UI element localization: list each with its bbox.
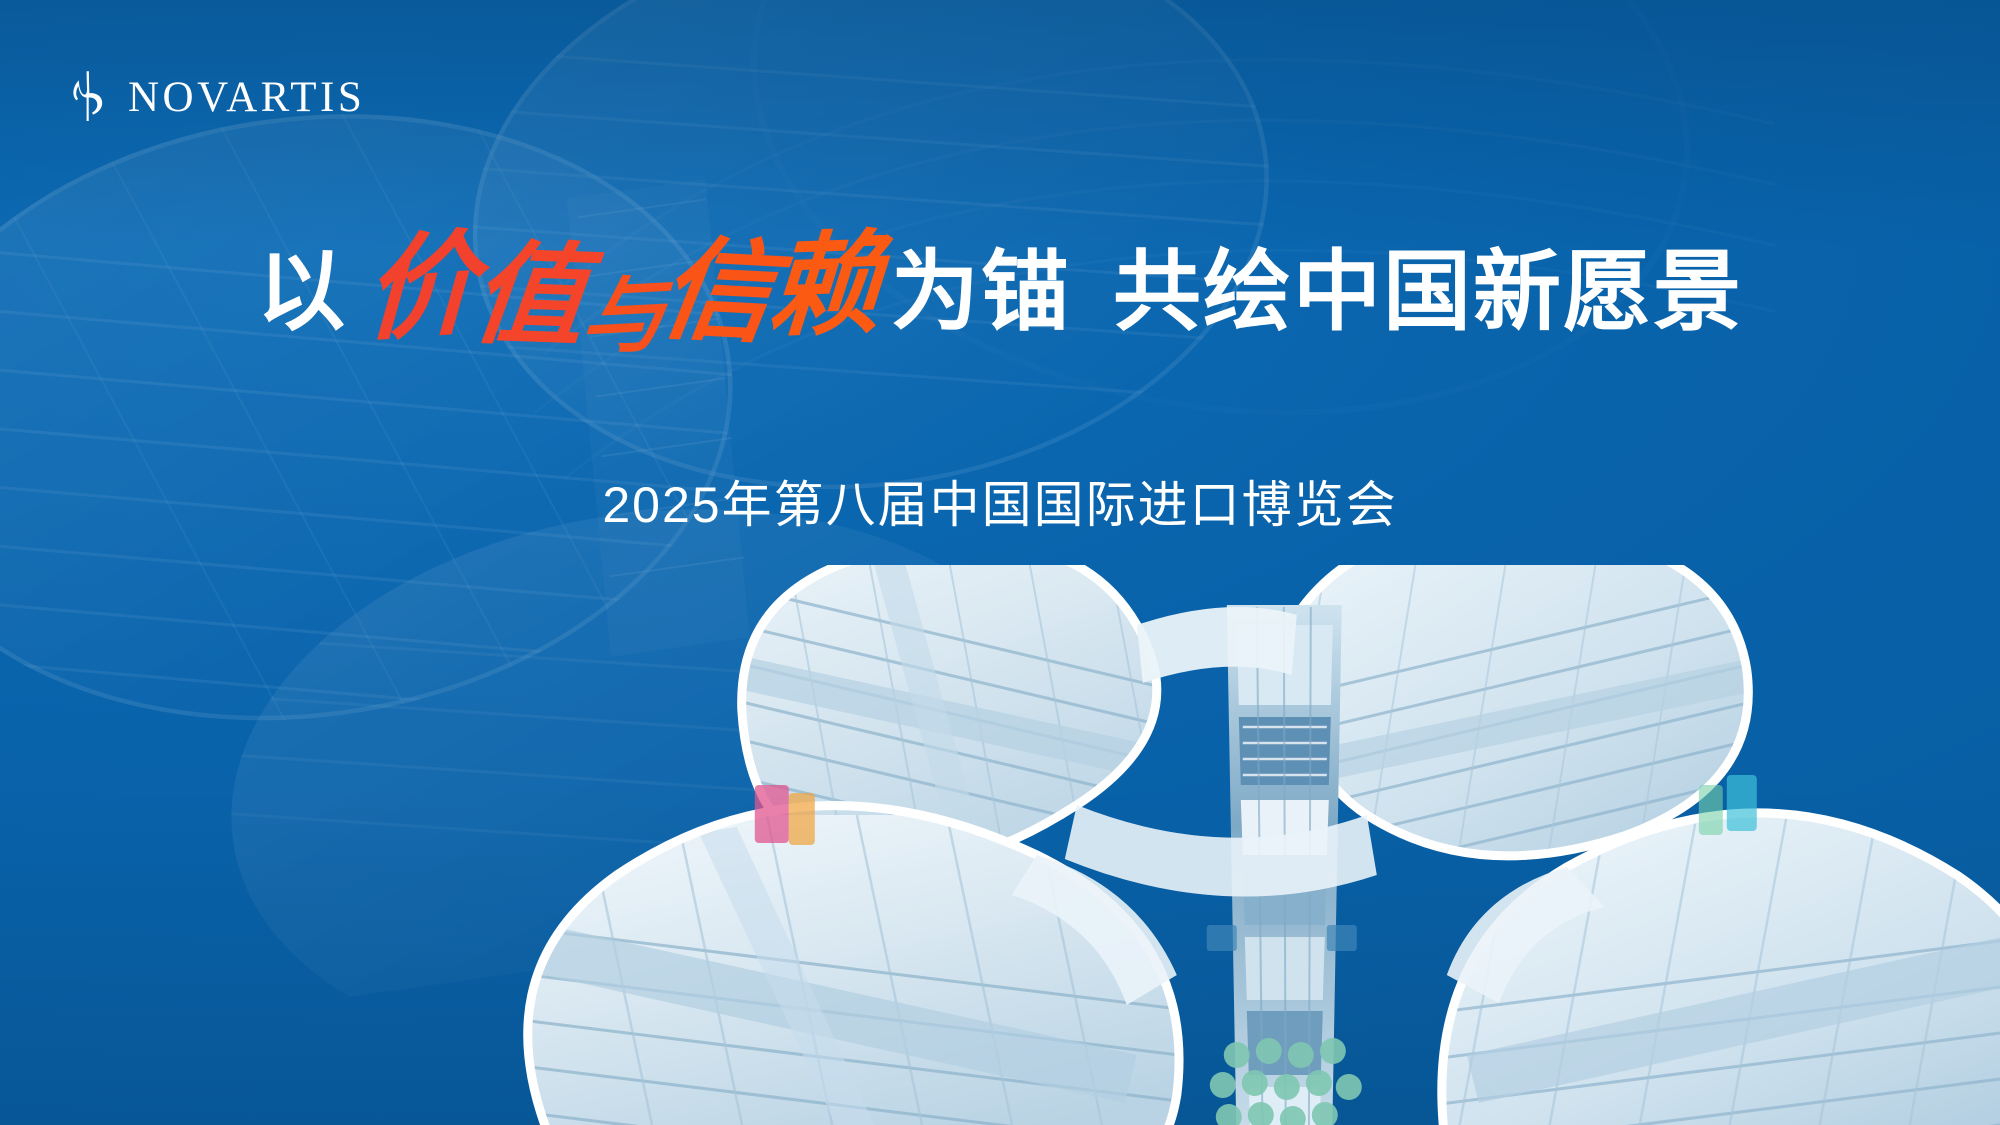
headline-lead: 以 bbox=[257, 248, 347, 336]
calligraphy-char-4: 信 bbox=[653, 234, 776, 351]
event-subtitle: 2025年第八届中国国际进口博览会 bbox=[0, 478, 2000, 533]
calligraphy-char-5: 赖 bbox=[765, 228, 881, 344]
calligraphy-char-2: 值 bbox=[467, 238, 587, 353]
calligraphy-char-3: 与 bbox=[579, 272, 665, 361]
background-vignette bbox=[0, 0, 2000, 1125]
calligraphy-char-1: 价 bbox=[363, 228, 475, 348]
headline-tail-a: 为锚 bbox=[891, 248, 1071, 336]
key-visual-poster: NOVARTIS 以 价 值 与 信 赖 为锚 共绘中国新愿景 2025年第八届… bbox=[0, 0, 2000, 1125]
novartis-flame-icon bbox=[66, 70, 106, 122]
headline-calligraphy: 价 值 与 信 赖 bbox=[365, 238, 877, 350]
novartis-logo[interactable]: NOVARTIS bbox=[66, 68, 365, 124]
headline: 以 价 值 与 信 赖 为锚 共绘中国新愿景 bbox=[0, 228, 2000, 340]
novartis-wordmark: NOVARTIS bbox=[128, 73, 365, 119]
headline-tail-b: 共绘中国新愿景 bbox=[1113, 248, 1743, 336]
